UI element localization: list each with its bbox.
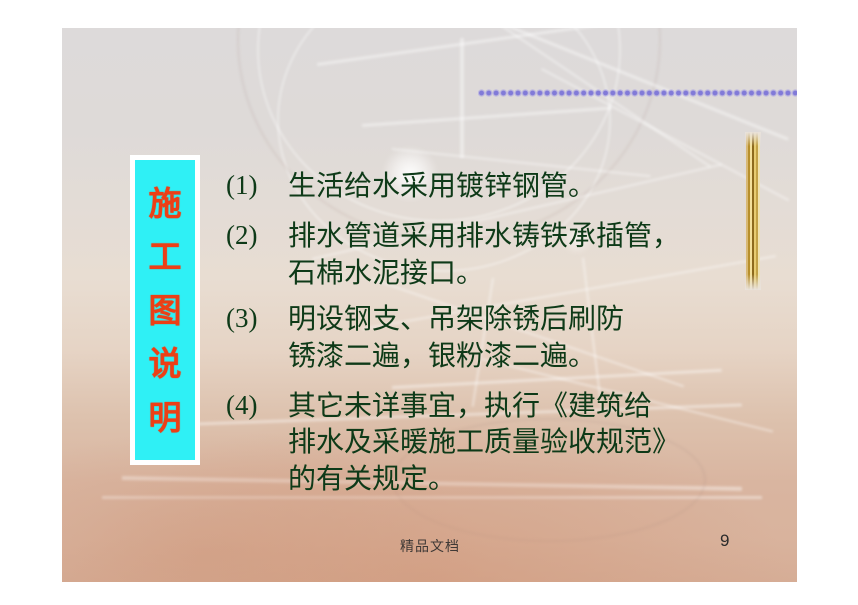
list-item: (3) 明设钢支、吊架除锈后刷防 锈漆二遍，银粉漆二遍。 [226,301,786,374]
page-canvas: 施 工 图 说 明 (1) 生活给水采用镀锌钢管。 (2) 排水管道采用排水铸铁… [0,0,858,605]
content-list: (1) 生活给水采用镀锌钢管。 (2) 排水管道采用排水铸铁承插管， 石棉水泥接… [226,168,786,505]
list-item-number: (2) [226,218,288,253]
list-item-line: 排水管道采用排水铸铁承插管， [288,219,680,252]
title-char-2: 工 [149,240,182,273]
title-char-3: 图 [149,294,182,327]
list-item: (4) 其它未详事宜，执行《建筑给 排水及采暖施工质量验收规范》 的有关规定。 [226,388,786,497]
list-item-text: 生活给水采用镀锌钢管。 [288,168,786,204]
list-item-line: 生活给水采用镀锌钢管。 [288,169,596,202]
list-item-number: (4) [226,388,288,423]
list-item: (1) 生活给水采用镀锌钢管。 [226,168,786,204]
list-item-text: 其它未详事宜，执行《建筑给 排水及采暖施工质量验收规范》 的有关规定。 [288,388,786,497]
dotted-rule-decoration [478,88,797,98]
vertical-title-inner: 施 工 图 说 明 [135,160,195,460]
list-item: (2) 排水管道采用排水铸铁承插管， 石棉水泥接口。 [226,218,786,291]
list-item-line: 其它未详事宜，执行《建筑给 [288,389,652,422]
list-item-text: 明设钢支、吊架除锈后刷防 锈漆二遍，银粉漆二遍。 [288,301,786,374]
vertical-title-box: 施 工 图 说 明 [130,155,200,465]
watermark-text: 精品文档 [400,536,460,556]
list-item-number: (3) [226,301,288,336]
list-item-line: 石棉水泥接口。 [288,256,484,289]
list-item-text: 排水管道采用排水铸铁承插管， 石棉水泥接口。 [288,218,786,291]
list-item-line: 锈漆二遍，银粉漆二遍。 [288,339,596,372]
title-char-4: 说 [149,347,182,380]
slide: 施 工 图 说 明 (1) 生活给水采用镀锌钢管。 (2) 排水管道采用排水铸铁… [62,28,797,582]
list-item-line: 明设钢支、吊架除锈后刷防 [288,302,624,335]
title-char-1: 施 [149,187,182,220]
list-item-line: 的有关规定。 [288,462,456,495]
list-item-line: 排水及采暖施工质量验收规范》 [288,425,680,458]
title-char-5: 明 [149,401,182,434]
list-item-number: (1) [226,168,288,203]
page-number: 9 [720,531,729,551]
